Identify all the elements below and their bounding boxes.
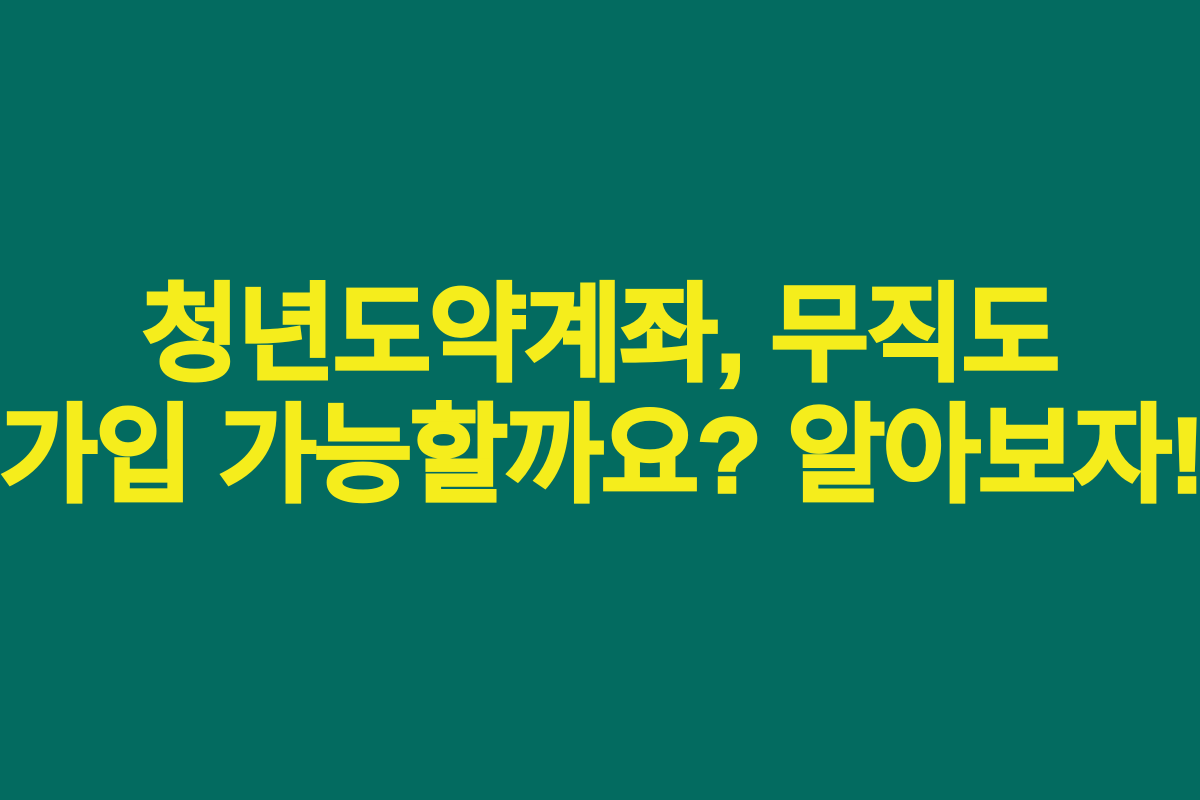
headline-line-2: 가입 가능할까요? 알아보자! (0, 396, 1200, 517)
headline-line-1: 청년도약계좌, 무직도 (0, 275, 1200, 396)
headline-block: 청년도약계좌, 무직도 가입 가능할까요? 알아보자! (0, 275, 1200, 517)
poster-canvas: 청년도약계좌, 무직도 가입 가능할까요? 알아보자! (0, 0, 1200, 800)
